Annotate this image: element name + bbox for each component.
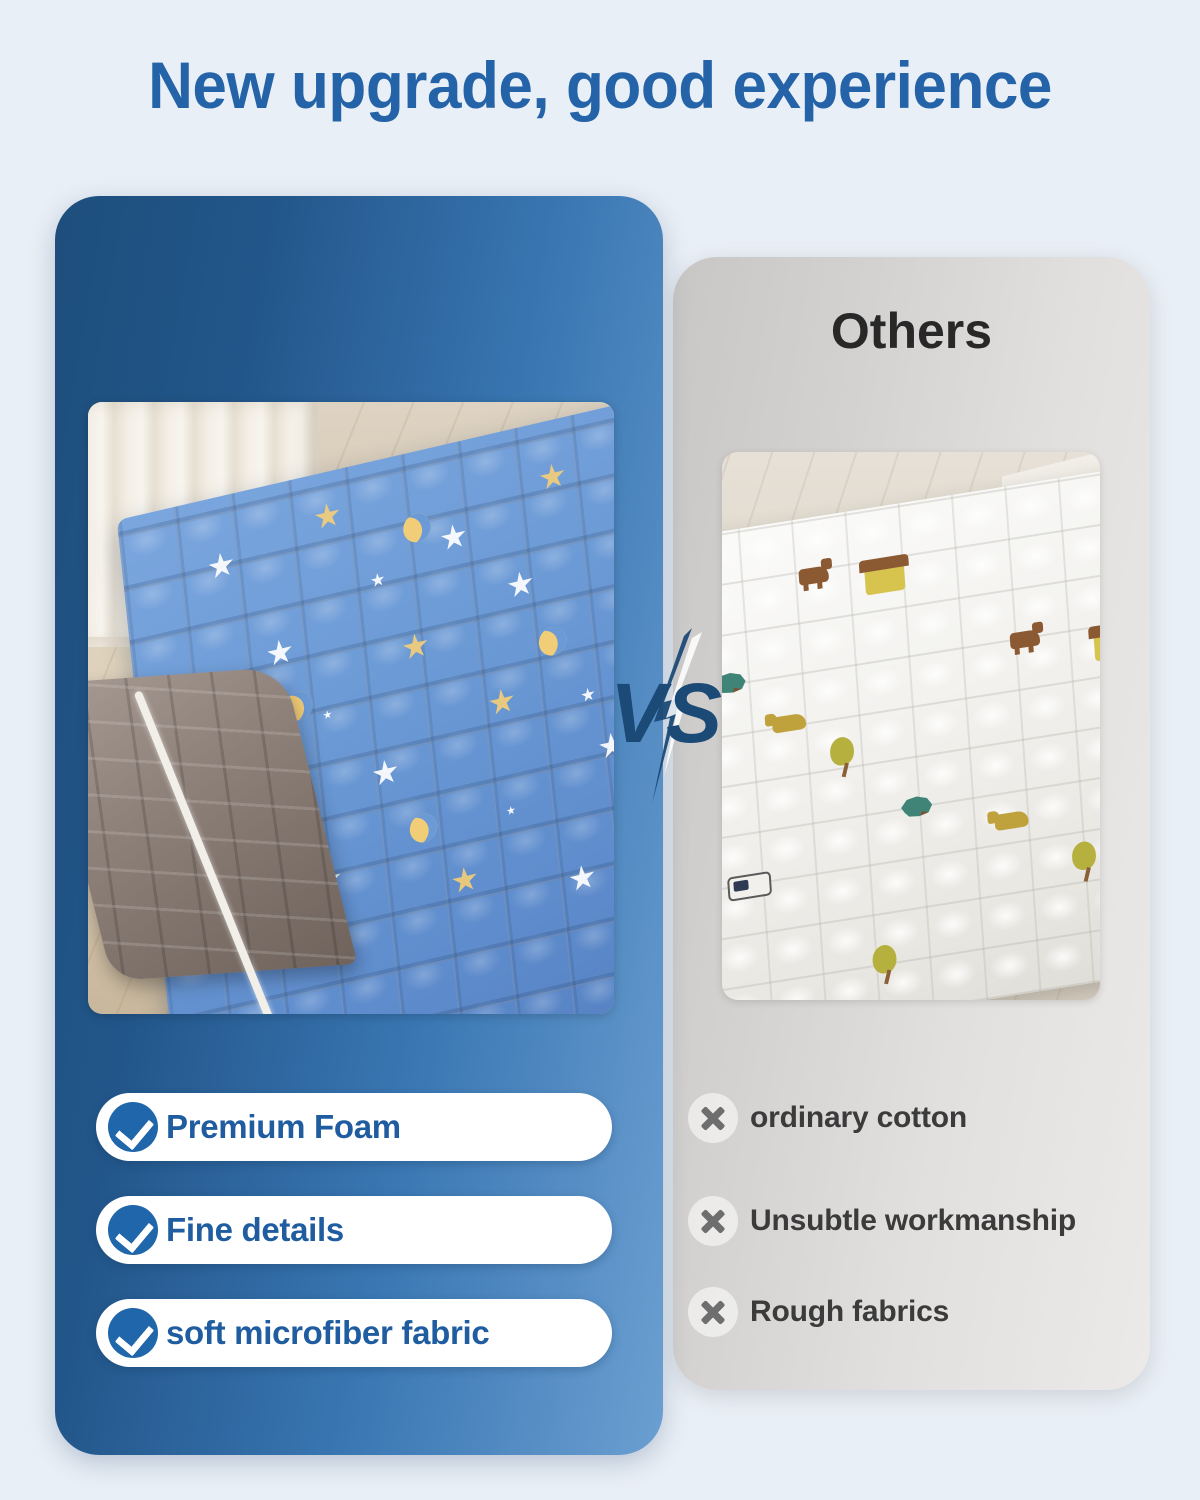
others-feature-row: Unsubtle workmanship xyxy=(688,1196,1076,1246)
x-circle-icon xyxy=(688,1093,738,1143)
others-feature-label: Unsubtle workmanship xyxy=(750,1204,1076,1238)
x-circle-icon xyxy=(688,1287,738,1337)
star-motif-icon xyxy=(322,709,332,720)
star-motif-icon xyxy=(313,500,341,532)
ours-feature-pill: Fine details xyxy=(96,1196,612,1264)
others-heading: Others xyxy=(673,306,1150,356)
ours-feature-pill: Premium Foam xyxy=(96,1093,612,1161)
star-motif-icon xyxy=(450,864,478,896)
others-scene-background xyxy=(722,452,1100,1000)
star-motif-icon xyxy=(538,461,566,493)
moon-motif-icon xyxy=(537,624,567,658)
moon-motif-icon xyxy=(408,811,438,845)
check-circle-icon xyxy=(108,1308,158,1358)
ours-feature-label: soft microfiber fabric xyxy=(166,1314,489,1352)
others-feature-row: ordinary cotton xyxy=(688,1093,967,1143)
star-motif-icon xyxy=(597,730,614,762)
star-motif-icon xyxy=(265,637,293,669)
star-motif-icon xyxy=(371,757,399,789)
star-motif-icon xyxy=(439,521,467,553)
house-motif-icon xyxy=(1094,630,1100,662)
others-product-photo xyxy=(722,452,1100,1000)
star-motif-icon xyxy=(401,631,429,663)
check-circle-icon xyxy=(108,1102,158,1152)
others-feature-label: ordinary cotton xyxy=(750,1101,967,1135)
page-title: New upgrade, good experience xyxy=(36,48,1164,124)
x-circle-icon xyxy=(688,1196,738,1246)
ours-feature-label: Fine details xyxy=(166,1211,344,1249)
ours-scene-background xyxy=(88,402,614,1014)
ours-feature-label: Premium Foam xyxy=(166,1108,401,1146)
star-motif-icon xyxy=(568,862,596,894)
others-feature-label: Rough fabrics xyxy=(750,1295,949,1329)
check-circle-icon xyxy=(108,1205,158,1255)
star-motif-icon xyxy=(207,550,235,582)
star-motif-icon xyxy=(580,686,595,703)
star-motif-icon xyxy=(506,569,534,601)
ours-product-photo xyxy=(88,402,614,1014)
others-quilted-mat xyxy=(722,464,1100,1000)
star-motif-icon xyxy=(506,805,516,816)
moon-motif-icon xyxy=(401,511,431,545)
ours-feature-pill: soft microfiber fabric xyxy=(96,1299,612,1367)
star-motif-icon xyxy=(370,572,385,589)
others-feature-row: Rough fabrics xyxy=(688,1287,949,1337)
star-motif-icon xyxy=(487,686,515,718)
